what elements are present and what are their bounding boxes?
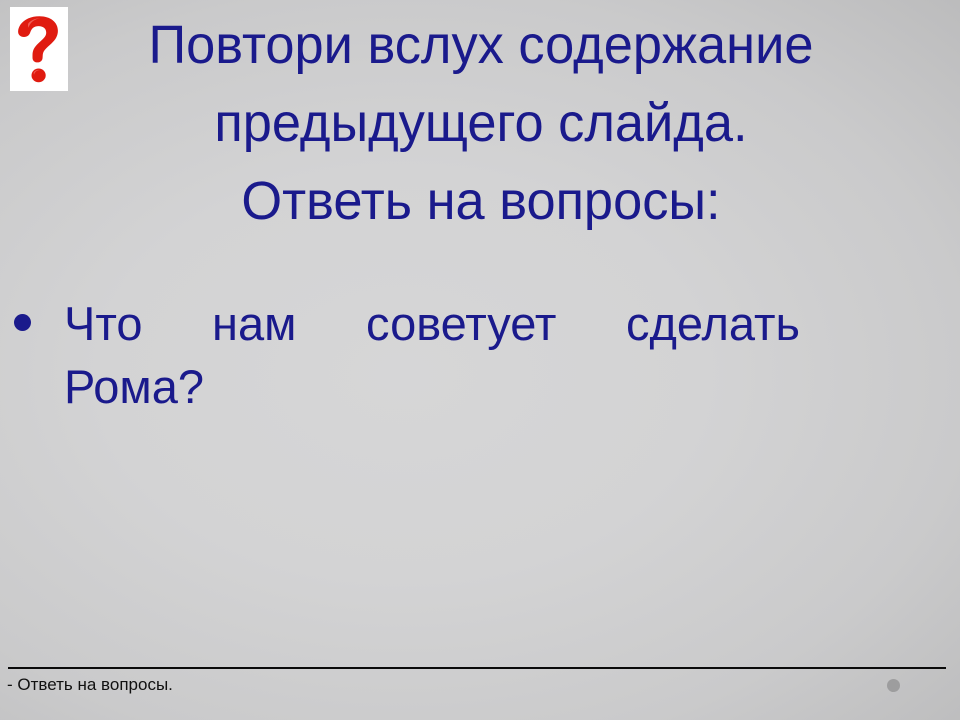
- question-mark-icon: [10, 7, 68, 91]
- title-line-1: Повтори вслух содержание: [84, 6, 877, 84]
- title-line-2: предыдущего слайда.: [84, 84, 877, 162]
- slide-body: Что нам советует сделать Рома?: [0, 292, 830, 418]
- presentation-slide: Повтори вслух содержание предыдущего сла…: [0, 0, 960, 720]
- bullet-line-1: Что нам советует сделать: [64, 292, 800, 355]
- footer-note: - Ответь на вопросы.: [7, 674, 173, 696]
- bullet-marker-icon: [14, 314, 31, 331]
- slide-title: Повтори вслух содержание предыдущего сла…: [72, 6, 890, 240]
- footer-dot-icon: [887, 679, 900, 692]
- list-item: Что нам советует сделать Рома?: [0, 292, 830, 418]
- question-mark-glyph: [16, 14, 62, 84]
- footer-divider: [8, 667, 946, 669]
- title-line-3: Ответь на вопросы:: [84, 162, 877, 240]
- bullet-line-2: Рома?: [64, 355, 830, 418]
